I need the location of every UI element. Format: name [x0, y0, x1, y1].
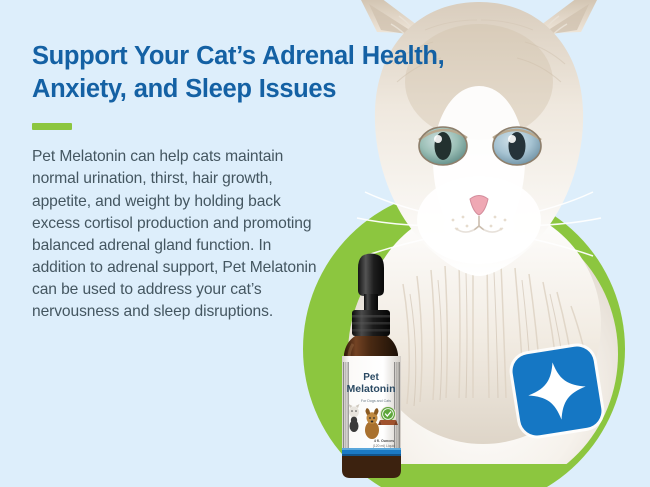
headline-line-2: Anxiety, and Sleep Issues	[32, 73, 542, 106]
svg-text:4 fl. Ounces: 4 fl. Ounces	[374, 439, 394, 443]
headline-line-1: Support Your Cat’s Adrenal Health,	[32, 42, 444, 70]
svg-text:Melatonin: Melatonin	[347, 383, 396, 395]
text-column: Support Your Cat’s Adrenal Health, Anxie…	[32, 40, 332, 323]
svg-text:(120 ml) Liquid: (120 ml) Liquid	[373, 444, 396, 448]
accent-divider	[32, 123, 72, 130]
star-icon	[510, 344, 604, 438]
star-badge	[510, 344, 604, 438]
promo-banner: Pet Melatonin For Dogs and Cats	[0, 0, 650, 487]
product-bottle: Pet Melatonin For Dogs and Cats	[322, 252, 420, 480]
page-title: Support Your Cat’s Adrenal Health, Anxie…	[32, 40, 542, 106]
body-paragraph: Pet Melatonin can help cats maintain nor…	[32, 146, 322, 323]
svg-text:For Dogs and Cats: For Dogs and Cats	[361, 399, 391, 403]
cat-image-alt: Ragdoll cat with cream and white fur and…	[0, 0, 1, 1]
svg-text:Pet: Pet	[363, 372, 379, 383]
badge-rounded-square	[510, 344, 604, 438]
